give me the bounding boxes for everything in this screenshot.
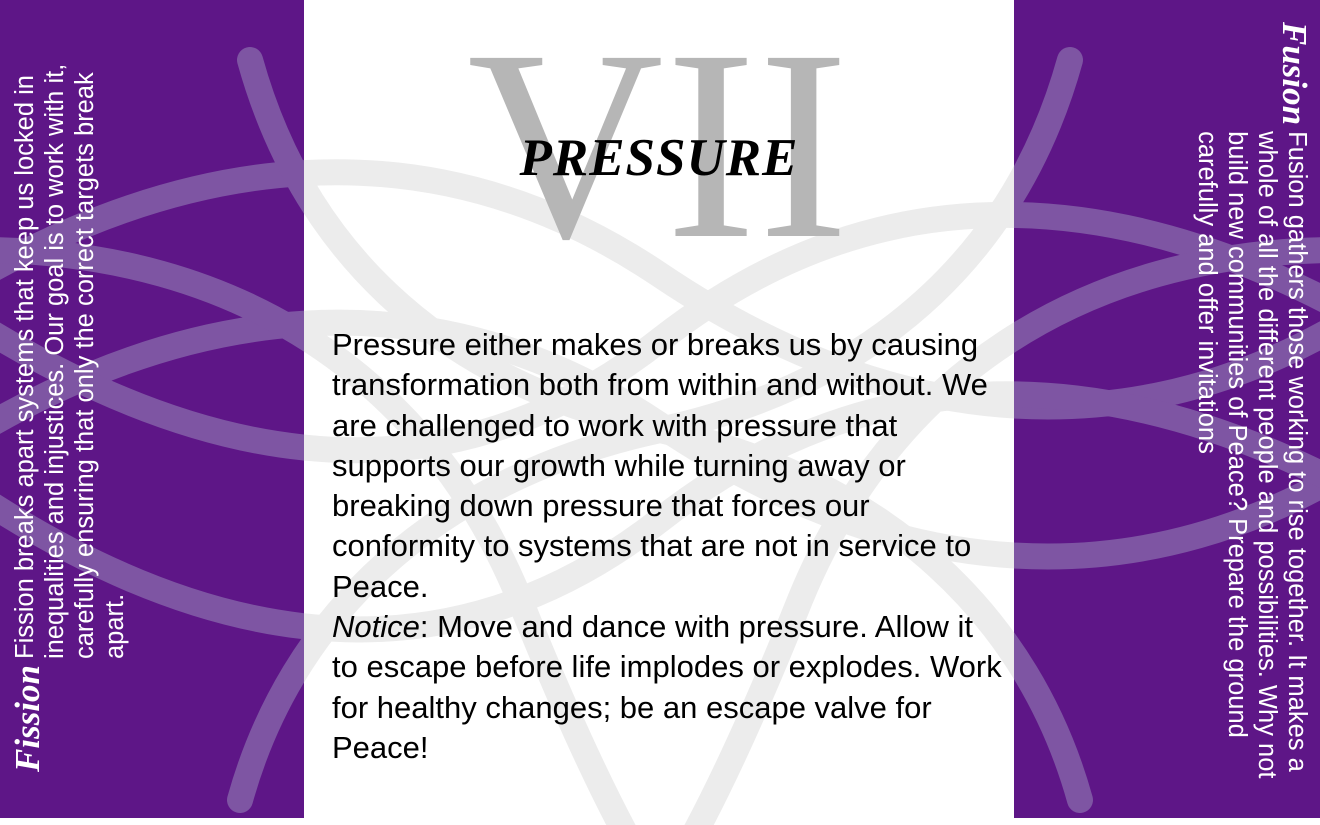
- body-copy: Pressure either makes or breaks us by ca…: [332, 325, 1004, 768]
- fission-heading: Fission: [10, 665, 45, 772]
- fusion-heading: Fusion: [1277, 22, 1312, 125]
- fusion-text-block: Fusion Fusion gathers those working to r…: [1014, 0, 1320, 818]
- body-paragraph-1: Pressure either makes or breaks us by ca…: [332, 325, 1004, 607]
- notice-separator: :: [420, 609, 437, 644]
- fission-text-block: Fission Fission breaks apart systems tha…: [0, 0, 304, 818]
- fusion-body: Fusion gathers those working to rise tog…: [1192, 131, 1312, 812]
- fission-body: Fission breaks apart systems that keep u…: [10, 12, 130, 659]
- body-paragraph-notice: Notice: Move and dance with pressure. Al…: [332, 607, 1004, 768]
- page-title: PRESSURE: [304, 128, 1014, 188]
- notice-label: Notice: [332, 609, 420, 644]
- slide-canvas: Fission Fission breaks apart systems tha…: [0, 0, 1320, 825]
- main-content-area: VII PRESSURE Pressure either makes or br…: [304, 0, 1014, 825]
